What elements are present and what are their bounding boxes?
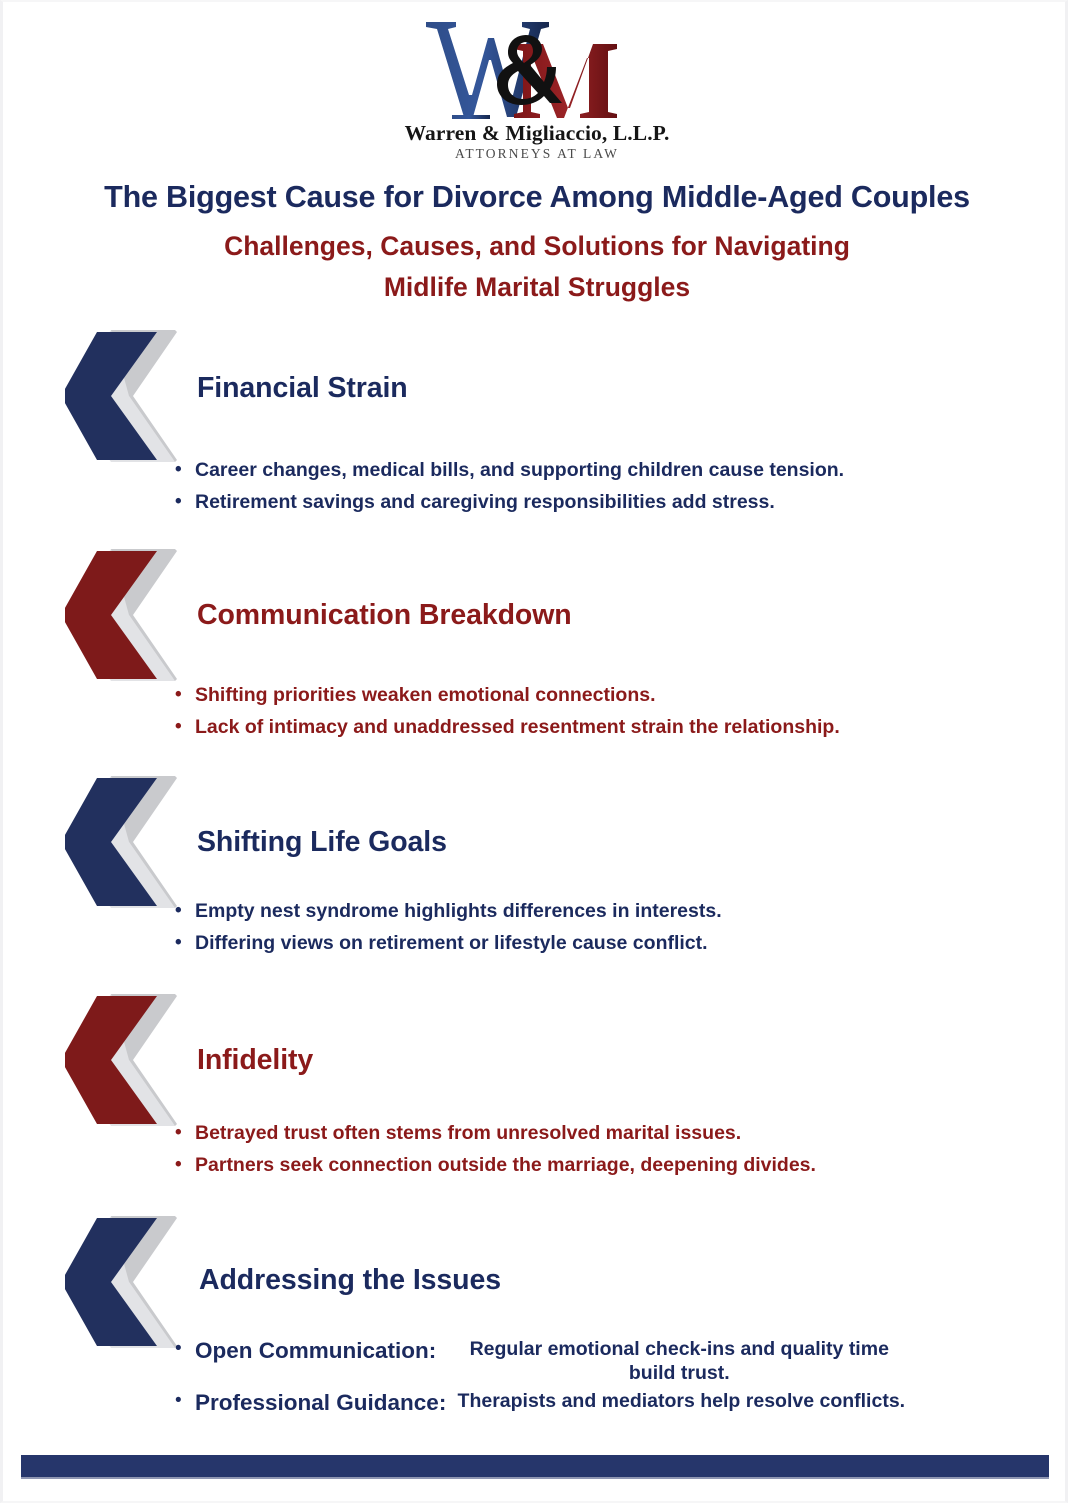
section-bullets: Empty nest syndrome highlights differenc… — [171, 902, 722, 953]
infographic-page: Warren & Migliaccio, L.L.P. ATTORNEYS AT… — [0, 0, 1068, 1503]
list-item: Shifting priorities weaken emotional con… — [171, 686, 840, 706]
section-heading: Communication Breakdown — [197, 599, 572, 632]
section-heading: Infidelity — [197, 1044, 313, 1077]
chevron-icon — [65, 992, 187, 1128]
advice-label: Open Communication: — [195, 1338, 436, 1364]
list-item: Retirement savings and caregiving respon… — [171, 493, 844, 513]
list-item: Differing views on retirement or lifesty… — [171, 934, 722, 954]
section-heading: Financial Strain — [197, 372, 408, 405]
list-item: Lack of intimacy and unaddressed resentm… — [171, 718, 840, 738]
subtitle-line-2: Midlife Marital Struggles — [3, 267, 1068, 308]
page-subtitle: Challenges, Causes, and Solutions for Na… — [3, 226, 1068, 308]
advice-description: Therapists and mediators help resolve co… — [446, 1390, 916, 1414]
chevron-icon — [65, 1214, 187, 1350]
list-item: Empty nest syndrome highlights differenc… — [171, 902, 722, 922]
page-title: The Biggest Cause for Divorce Among Midd… — [3, 180, 1068, 215]
section-heading: Shifting Life Goals — [197, 826, 447, 859]
subtitle-line-1: Challenges, Causes, and Solutions for Na… — [3, 226, 1068, 267]
section-bullets: Betrayed trust often stems from unresolv… — [171, 1124, 816, 1175]
law-firm-logo: Warren & Migliaccio, L.L.P. ATTORNEYS AT… — [3, 16, 1068, 162]
footer-bar — [21, 1455, 1049, 1479]
advice-description: Regular emotional check-ins and quality … — [436, 1338, 914, 1386]
firm-tagline: ATTORNEYS AT LAW — [3, 146, 1068, 162]
section-bullets: Shifting priorities weaken emotional con… — [171, 686, 840, 737]
list-item: Open Communication:Regular emotional che… — [171, 1338, 916, 1386]
advice-label: Professional Guidance: — [195, 1390, 446, 1416]
list-item: Professional Guidance:Therapists and med… — [171, 1390, 916, 1416]
section-heading: Addressing the Issues — [199, 1264, 501, 1297]
list-item: Betrayed trust often stems from unresolv… — [171, 1124, 816, 1144]
advice-list: Open Communication:Regular emotional che… — [171, 1338, 916, 1420]
chevron-icon — [65, 774, 187, 910]
chevron-icon — [65, 547, 187, 683]
wm-monogram-icon — [412, 16, 662, 124]
section-bullets: Career changes, medical bills, and suppo… — [171, 461, 844, 512]
firm-name: Warren & Migliaccio, L.L.P. — [3, 122, 1068, 145]
chevron-icon — [65, 328, 187, 464]
list-item: Career changes, medical bills, and suppo… — [171, 461, 844, 481]
list-item: Partners seek connection outside the mar… — [171, 1156, 816, 1176]
